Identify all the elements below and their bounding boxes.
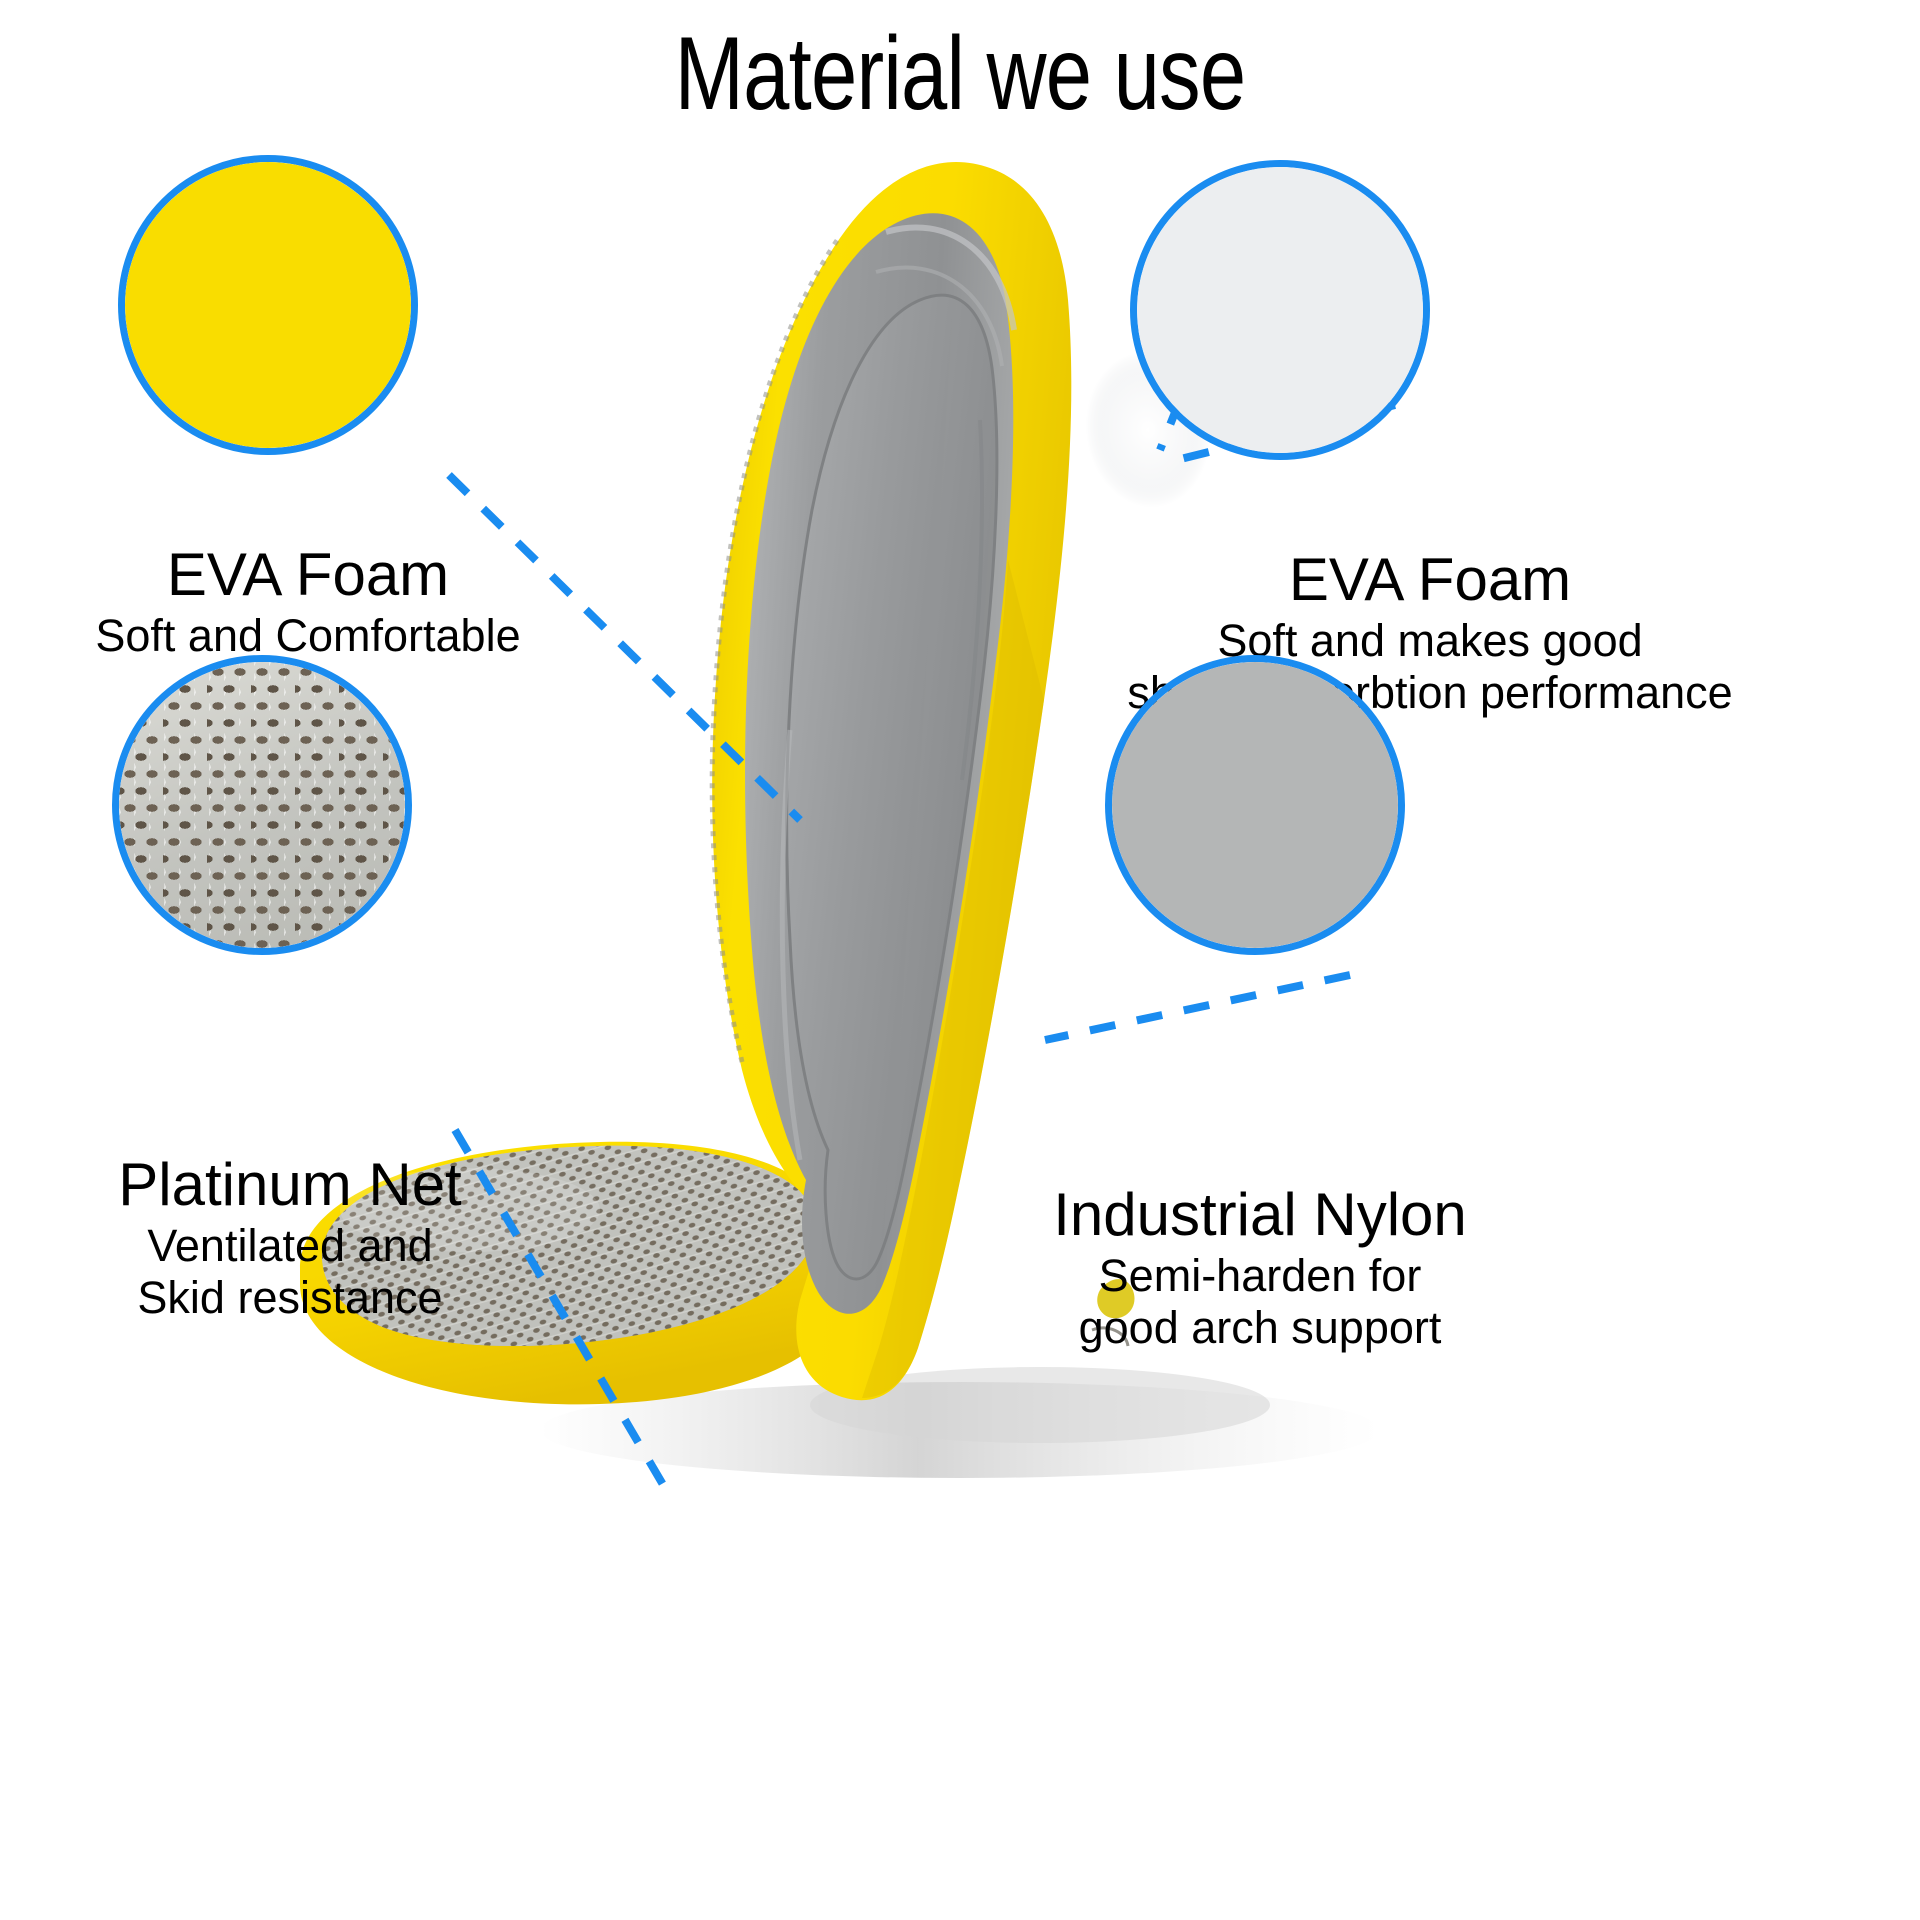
- callout-subtitle: Soft and makes good shock absorbtion per…: [1000, 615, 1860, 719]
- swatch-industrial-nylon: [1105, 655, 1405, 955]
- swatch-platinum-net-mesh: [112, 655, 412, 955]
- label-industrial-nylon: Industrial Nylon Semi-harden for good ar…: [975, 1180, 1545, 1354]
- callout-subtitle-line: good arch support: [975, 1302, 1545, 1354]
- callout-subtitle-line: Ventilated and: [10, 1220, 570, 1272]
- callout-title: EVA Foam: [1000, 545, 1860, 615]
- callout-subtitle: Semi-harden for good arch support: [975, 1250, 1545, 1354]
- callout-subtitle-line: Soft and makes good: [1000, 615, 1860, 667]
- label-platinum-net: Platinum Net Ventilated and Skid resista…: [10, 1150, 570, 1324]
- infographic-canvas: Material we use: [0, 0, 1920, 1920]
- swatch-eva-foam-light: [1130, 160, 1430, 460]
- swatch-eva-foam-yellow: [118, 155, 418, 455]
- callout-title: Industrial Nylon: [975, 1180, 1545, 1250]
- callout-subtitle-line: Skid resistance: [10, 1272, 570, 1324]
- swatch-fill-light-grey: [1137, 167, 1423, 453]
- callout-title: Platinum Net: [10, 1150, 570, 1220]
- callout-title: EVA Foam: [28, 540, 588, 610]
- callout-subtitle-line: Semi-harden for: [975, 1250, 1545, 1302]
- swatch-fill-medium-grey: [1112, 662, 1398, 948]
- callout-subtitle-line: shock absorbtion performance: [1000, 667, 1860, 719]
- swatch-fill-yellow: [125, 162, 411, 448]
- label-eva-foam-right: EVA Foam Soft and makes good shock absor…: [1000, 545, 1860, 719]
- callout-subtitle: Ventilated and Skid resistance: [10, 1220, 570, 1324]
- swatch-fill-mesh: [119, 662, 405, 948]
- callout-subtitle: Soft and Comfortable: [28, 610, 588, 662]
- label-eva-foam-left: EVA Foam Soft and Comfortable: [28, 540, 588, 662]
- callout-subtitle-line: Soft and Comfortable: [28, 610, 588, 662]
